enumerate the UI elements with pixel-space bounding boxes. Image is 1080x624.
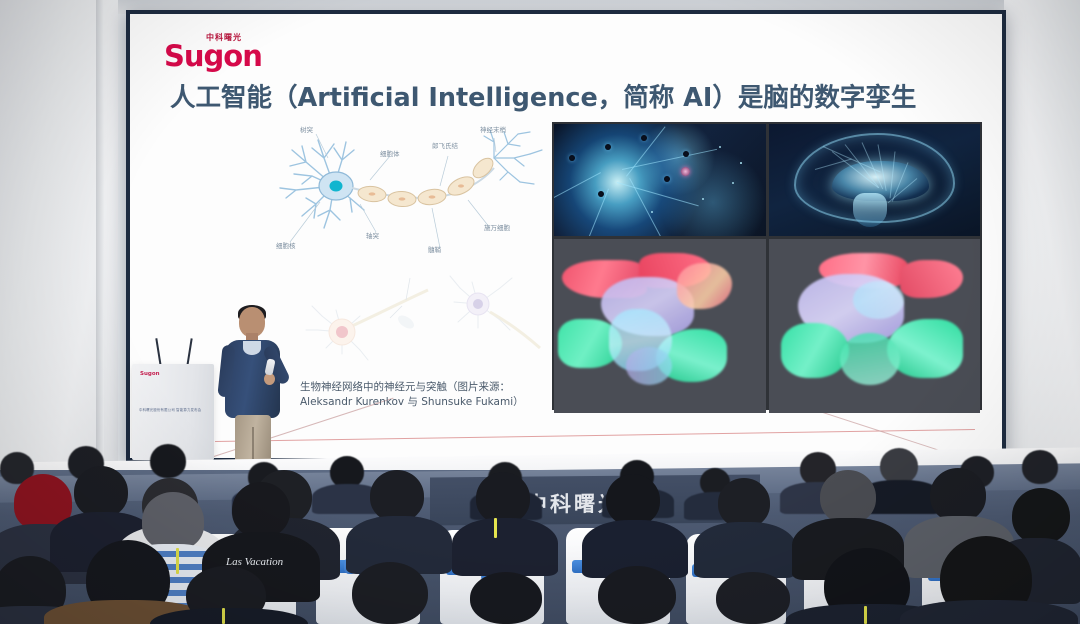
neuron-diagram: 树突 细胞体 细胞核 轴突 郎飞氏结 髓鞘 施万细胞 神经末梢: [272, 124, 552, 254]
slide-caption: 生物神经网络中的神经元与突触（图片来源： Aleksandr Kurenkov …: [300, 380, 550, 410]
neuron-label-myelin: 髓鞘: [428, 244, 441, 254]
caption-line-1: 生物神经网络中的神经元与突触（图片来源：: [300, 380, 550, 395]
image-dti-tractography-right: [769, 239, 981, 413]
wall-right: [1004, 0, 1080, 470]
neuron-label-axon: 轴突: [366, 230, 379, 240]
caption-line-2: Aleksandr Kurenkov 与 Shunsuke Fukami）: [300, 395, 550, 410]
wall-pillar-edge: [96, 0, 104, 470]
image-dti-tractography-left: [554, 239, 766, 413]
slide-decoration-line: [215, 429, 975, 442]
presenter-collar: [243, 341, 261, 355]
synapse-diagram: [302, 260, 552, 370]
neuron-label-schwann-cell: 施万细胞: [484, 222, 510, 232]
neuron-label-terminal: 神经末梢: [480, 124, 506, 134]
image-brain-sagittal: [769, 124, 981, 236]
brain-image-grid: [552, 122, 982, 410]
synapse-svg: [302, 260, 552, 370]
neuron-label-nucleus: 细胞核: [276, 240, 296, 250]
slide-title: 人工智能（Artificial Intelligence，简称 AI）是脑的数字…: [170, 77, 990, 114]
image-neuron-culture: [554, 124, 766, 236]
logo-latin-text: Sugon: [164, 43, 284, 71]
neuron-label-node-ranvier: 郎飞氏结: [432, 140, 458, 150]
neuron-label-soma: 细胞体: [380, 148, 400, 158]
podium-logo: Sugon: [140, 371, 160, 377]
neuron-svg: [272, 124, 552, 254]
conference-photo: 中科曙光 Sugon 人工智能（Artificial Intelligence，…: [0, 0, 1080, 624]
podium-banner-text: 中科曙光股份有限公司 智能算力发布会: [139, 408, 207, 413]
sugon-logo: 中科曙光 Sugon: [164, 32, 284, 71]
neuron-label-dendrite: 树突: [300, 124, 313, 134]
presenter: [222, 307, 284, 462]
